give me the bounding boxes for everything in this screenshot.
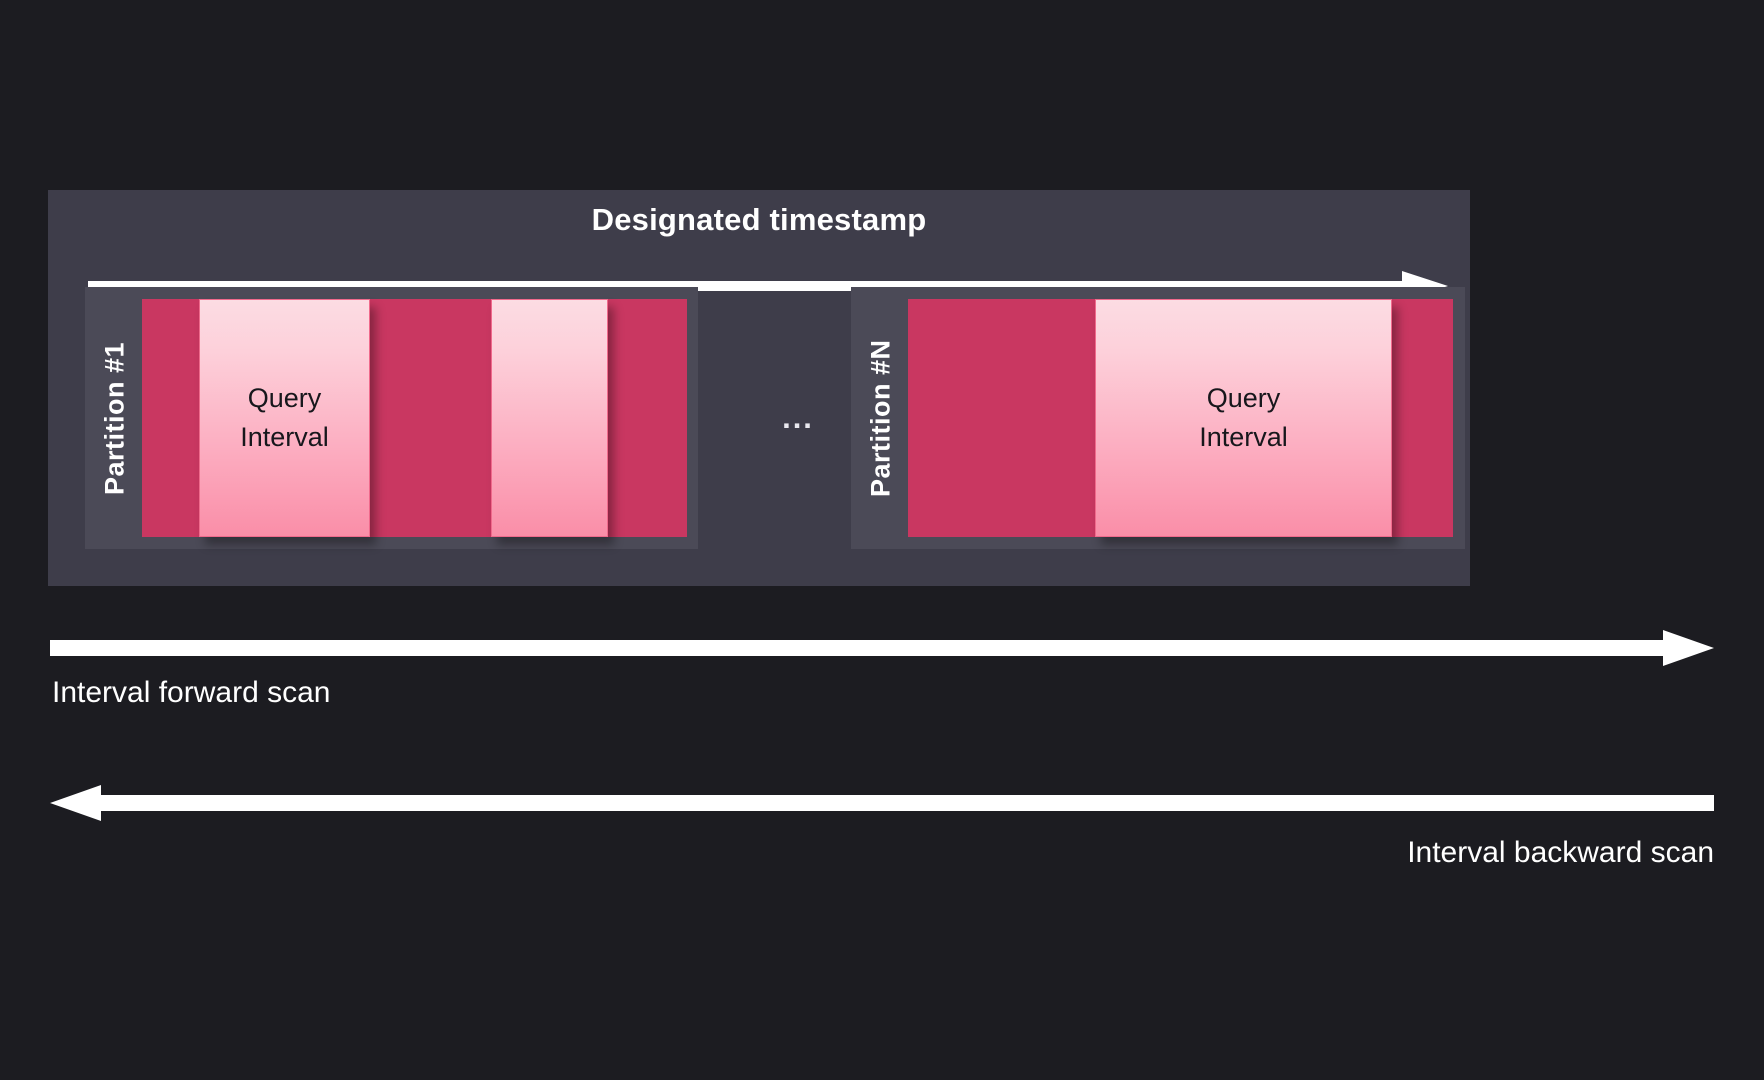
partition-1-block-light-2 <box>491 299 608 537</box>
partition-1: Partition #1 Query Interval <box>85 287 698 549</box>
interval-backward-scan-label: Interval backward scan <box>1407 836 1714 870</box>
partition-n-block-dark-2 <box>1392 299 1453 537</box>
diagram-canvas: Designated timestamp Partition #1 Query … <box>0 0 1764 1080</box>
partition-1-block-dark-3 <box>608 299 687 537</box>
partition-1-query-interval: Query Interval <box>199 299 370 537</box>
partition-1-blocks: Query Interval <box>142 299 698 537</box>
interval-backward-scan-arrow <box>0 785 1764 821</box>
interval-forward-scan-label: Interval forward scan <box>52 676 330 710</box>
partition-n-blocks: Query Interval <box>908 299 1465 537</box>
partition-1-block-dark-1 <box>142 299 199 537</box>
query-interval-label-line2: Interval <box>240 418 329 457</box>
designated-timestamp-panel: Designated timestamp Partition #1 Query … <box>48 190 1470 586</box>
query-interval-n-label-line2: Interval <box>1199 418 1288 457</box>
query-interval-n-label-line1: Query <box>1207 379 1281 418</box>
partition-n: Partition #N Query Interval <box>851 287 1465 549</box>
partition-1-block-dark-2 <box>370 299 491 537</box>
partition-ellipsis: ... <box>753 287 843 549</box>
interval-forward-scan-arrow <box>0 630 1764 666</box>
query-interval-label-line1: Query <box>248 379 322 418</box>
partition-1-label: Partition #1 <box>92 287 138 549</box>
partition-n-block-dark-1 <box>908 299 1095 537</box>
designated-timestamp-title: Designated timestamp <box>48 202 1470 238</box>
partition-n-label: Partition #N <box>858 287 904 549</box>
partitions-row: Partition #1 Query Interval ... Partitio… <box>48 287 1470 549</box>
partition-n-query-interval: Query Interval <box>1095 299 1392 537</box>
